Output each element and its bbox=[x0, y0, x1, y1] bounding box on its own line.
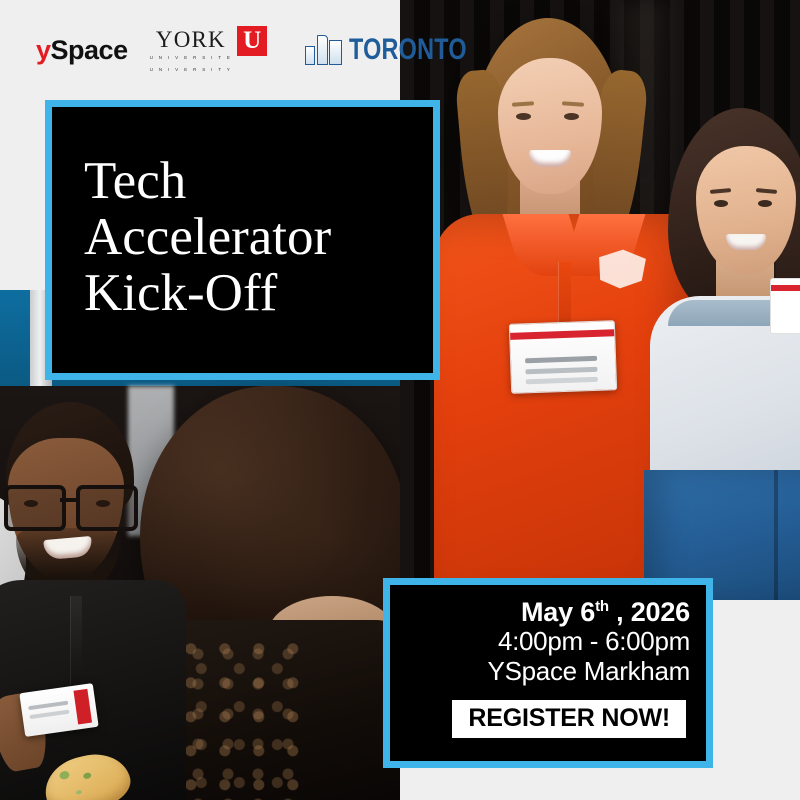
city-of-toronto-logo: TORONTO bbox=[305, 35, 500, 65]
partner-logo-bar: ySpace YORK U N I V E R S I T E U N I V … bbox=[0, 0, 400, 100]
woman-a-eye-right bbox=[564, 113, 579, 120]
event-date-ordinal: th bbox=[595, 598, 609, 615]
event-date: May 6th , 2026 bbox=[521, 597, 690, 627]
toronto-building-3 bbox=[329, 40, 342, 65]
woman-b-eye-left bbox=[714, 200, 728, 207]
york-sub-en: U N I V E R S I T Y bbox=[150, 66, 233, 74]
yspace-logo: ySpace bbox=[36, 37, 128, 64]
york-university-logo: YORK U N I V E R S I T E U N I V E R S I… bbox=[150, 26, 268, 74]
event-location: YSpace Markham bbox=[488, 657, 690, 687]
toronto-buildings-icon bbox=[305, 35, 344, 65]
york-text-block: YORK U N I V E R S I T E U N I V E R S I… bbox=[150, 26, 233, 74]
yspace-y: y bbox=[36, 35, 51, 65]
event-promo-poster: ySpace YORK U N I V E R S I T E U N I V … bbox=[0, 0, 800, 800]
woman-a-name-badge bbox=[509, 320, 617, 394]
woman-a-smile bbox=[529, 150, 571, 167]
woman-b-eye-right bbox=[758, 200, 772, 207]
eyeglasses-icon bbox=[2, 485, 138, 525]
woman-a-eye-left bbox=[516, 113, 531, 120]
york-sub-fr: U N I V E R S I T E bbox=[150, 54, 233, 62]
york-wordmark: YORK bbox=[156, 28, 226, 51]
woman-a-brow-left bbox=[512, 101, 534, 107]
york-u-mark: U bbox=[237, 26, 267, 56]
toronto-building-1 bbox=[305, 46, 315, 65]
event-date-day: May 6 bbox=[521, 597, 595, 627]
man-eye-right bbox=[96, 500, 110, 507]
toronto-building-2 bbox=[317, 35, 328, 65]
woman-b-brow-right bbox=[756, 188, 777, 194]
toronto-wordmark: TORONTO bbox=[349, 35, 467, 65]
page-title: Tech Accelerator Kick-Off bbox=[52, 153, 331, 328]
man-eye-left bbox=[24, 500, 38, 507]
yspace-space: Space bbox=[51, 35, 128, 65]
woman-b-name-badge bbox=[770, 278, 800, 334]
woman-a-brow-right bbox=[562, 101, 584, 107]
event-date-year: , 2026 bbox=[609, 597, 690, 627]
woman-b-brow-left bbox=[710, 188, 731, 194]
glasses-lens-left bbox=[4, 485, 66, 531]
photo-two-women bbox=[400, 0, 800, 600]
glasses-lens-right bbox=[76, 485, 138, 531]
yspace-wordmark: ySpace bbox=[36, 37, 128, 64]
woman-b-smile bbox=[726, 234, 766, 250]
event-time: 4:00pm - 6:00pm bbox=[498, 627, 690, 657]
title-card: Tech Accelerator Kick-Off bbox=[45, 100, 440, 380]
register-now-button[interactable]: REGISTER NOW! bbox=[452, 700, 686, 738]
man-placket bbox=[70, 596, 82, 688]
event-details-card: May 6th , 2026 4:00pm - 6:00pm YSpace Ma… bbox=[383, 578, 713, 768]
glasses-bridge bbox=[60, 498, 78, 502]
